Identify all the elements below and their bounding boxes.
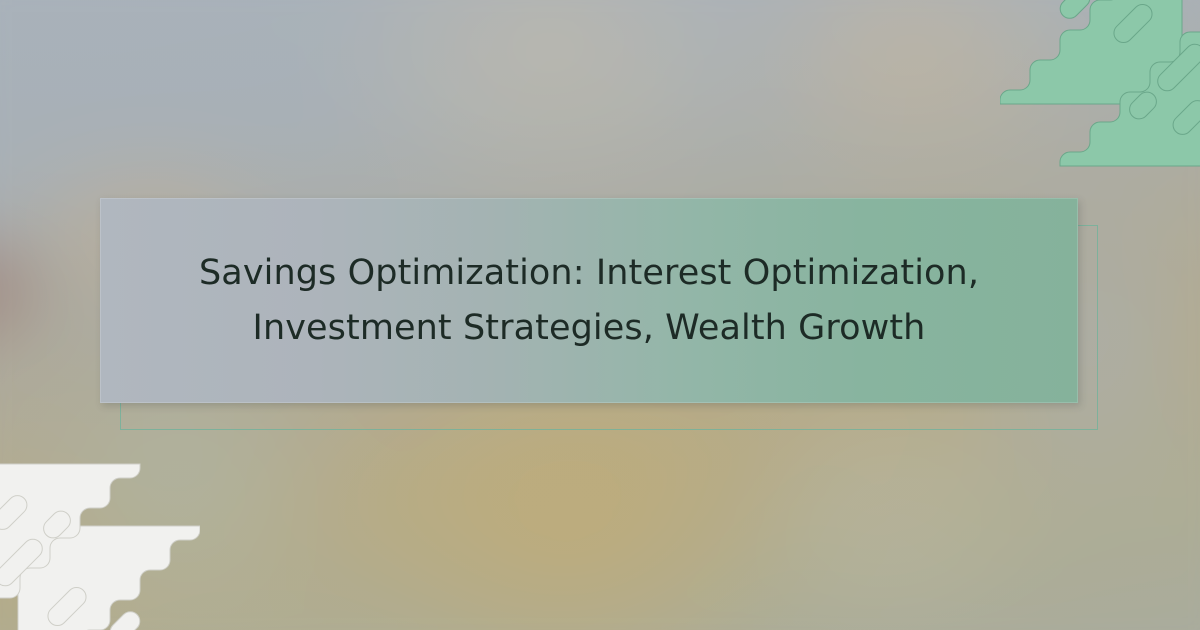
title-card: Savings Optimization: Interest Optimizat…: [100, 198, 1078, 403]
social-card-canvas: Savings Optimization: Interest Optimizat…: [0, 0, 1200, 630]
corner-decoration-bottom-left: [0, 430, 200, 630]
corner-decoration-top-right: [1000, 0, 1200, 200]
page-title: Savings Optimization: Interest Optimizat…: [100, 246, 1078, 355]
